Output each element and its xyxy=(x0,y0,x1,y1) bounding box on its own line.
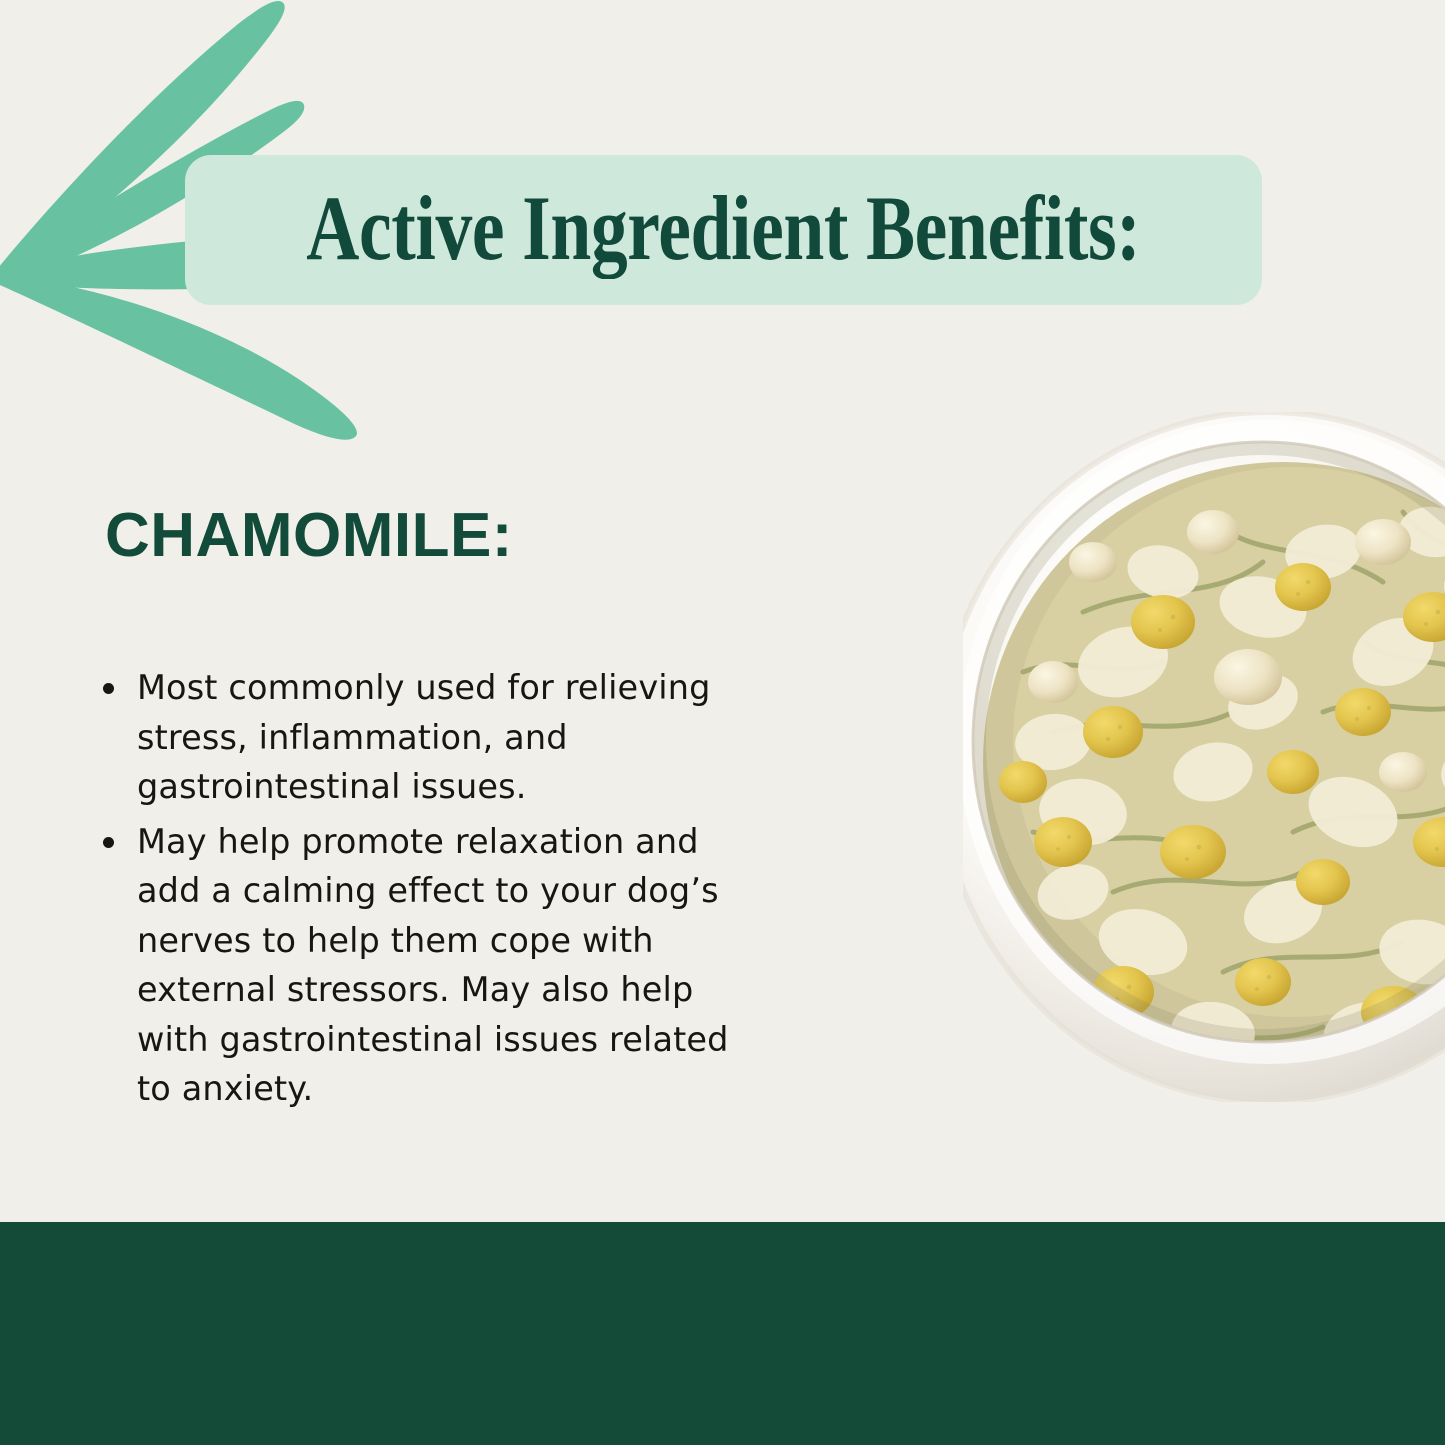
benefit-text: May help promote relaxation and add a ca… xyxy=(137,822,729,1109)
ingredient-heading: CHAMOMILE: xyxy=(105,505,513,567)
chamomile-bowl-photo xyxy=(963,412,1445,1112)
footer-band xyxy=(0,1222,1445,1445)
list-item: May help promote relaxation and add a ca… xyxy=(96,817,756,1114)
title-banner: Active Ingredient Benefits: xyxy=(185,155,1262,305)
bullet-icon xyxy=(103,683,114,694)
bullet-icon xyxy=(103,837,114,848)
benefit-text: Most commonly used for relieving stress,… xyxy=(137,668,711,806)
page-title: Active Ingredient Benefits: xyxy=(306,182,1140,274)
benefits-list: Most commonly used for relieving stress,… xyxy=(96,663,756,1119)
list-item: Most commonly used for relieving stress,… xyxy=(96,663,756,812)
slide-canvas: Active Ingredient Benefits: xyxy=(0,0,1445,1445)
